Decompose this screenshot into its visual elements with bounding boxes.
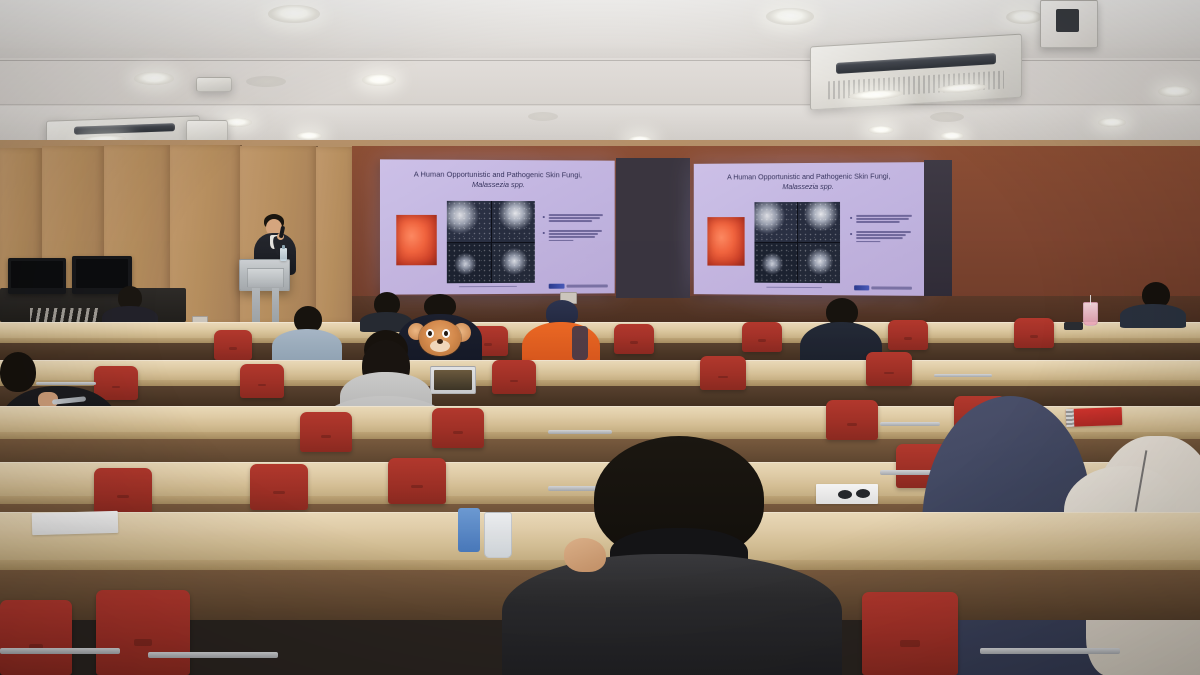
bullet-dot-icon	[543, 216, 545, 218]
shoulders	[1120, 304, 1186, 328]
lecture-chair[interactable]	[492, 360, 536, 394]
hand-on-shoulder	[564, 538, 606, 572]
slide-title: A Human Opportunistic and Pathogenic Ski…	[707, 171, 911, 192]
bullet-dot-icon	[850, 217, 852, 219]
smartphone	[1064, 322, 1083, 330]
right-projection-screen: A Human Opportunistic and Pathogenic Ski…	[694, 162, 925, 296]
ceiling-downlight	[134, 72, 174, 85]
ceiling-downlight	[362, 74, 396, 86]
chair-rail	[0, 648, 120, 654]
logo-wordmark	[871, 286, 912, 289]
sem-panel	[798, 202, 840, 242]
blue-bottle	[458, 508, 480, 552]
left-projection-screen: A Human Opportunistic and Pathogenic Ski…	[380, 159, 615, 294]
lecture-chair[interactable]	[214, 330, 252, 360]
ceiling-downlight-off	[930, 112, 964, 122]
slide-bullets	[850, 215, 913, 246]
red-notebook	[1066, 407, 1123, 427]
lecture-chair[interactable]	[0, 600, 72, 675]
lecture-chair[interactable]	[862, 592, 958, 675]
slide-title-line-2: Malassezia spp.	[707, 181, 911, 192]
ceiling-downlight	[1098, 118, 1126, 127]
sem-panel	[798, 243, 840, 283]
chair-rail	[548, 430, 612, 434]
bullet-item	[543, 214, 604, 222]
shoulders	[502, 554, 842, 675]
sem-panel	[754, 243, 796, 283]
desk-surface	[0, 360, 1200, 380]
lecture-chair[interactable]	[866, 352, 912, 386]
chair-rail	[148, 652, 278, 658]
clinical-skin-photo	[396, 215, 437, 265]
paper-sheet	[32, 511, 119, 535]
bullet-dot-icon	[850, 233, 852, 235]
logo-mark-icon	[549, 284, 565, 289]
ceiling-downlight	[1006, 10, 1042, 24]
lecture-chair[interactable]	[94, 468, 152, 514]
ceiling	[0, 0, 1200, 152]
sem-micrograph-grid	[754, 202, 840, 283]
lecture-chair[interactable]	[300, 412, 352, 452]
slide-bullets	[543, 214, 604, 245]
clinical-skin-photo	[707, 217, 744, 266]
lecture-chair[interactable]	[240, 364, 284, 398]
marker	[856, 489, 870, 498]
ceiling-ac-unit	[186, 120, 228, 142]
wall-dark-panel	[924, 160, 952, 296]
cable-tray	[30, 308, 100, 322]
ceiling-downlight	[940, 132, 964, 140]
slide-title-line-2: Malassezia spp.	[394, 180, 601, 191]
lecture-chair[interactable]	[432, 408, 484, 448]
bullet-item	[543, 230, 604, 241]
lecture-chair[interactable]	[250, 464, 308, 510]
sem-panel	[492, 201, 535, 242]
lecture-hall-photo: A Human Opportunistic and Pathogenic Ski…	[0, 0, 1200, 675]
lecture-chair[interactable]	[388, 458, 446, 504]
slide-title-line-1: A Human Opportunistic and Pathogenic Ski…	[414, 170, 582, 180]
university-logo	[549, 283, 608, 288]
podium	[239, 259, 290, 291]
backpack-strap	[572, 326, 588, 360]
logo-mark-icon	[854, 285, 869, 290]
chair-rail	[980, 648, 1120, 654]
sem-panel	[754, 202, 796, 242]
ceiling-speaker	[1040, 0, 1098, 48]
pink-drink-cup	[1083, 302, 1098, 326]
projector-mount	[196, 77, 232, 92]
ceiling-downlight	[868, 126, 894, 134]
student-front-black-turtleneck	[502, 436, 842, 675]
sem-panel	[492, 242, 535, 283]
lecture-chair[interactable]	[1014, 318, 1054, 348]
ceiling-ac-unit	[810, 34, 1022, 111]
chair-rail	[880, 422, 940, 426]
bullet-dot-icon	[543, 232, 545, 234]
sem-panel	[447, 243, 491, 284]
student-blazer-right	[1120, 282, 1186, 326]
ceiling-downlight-off	[528, 112, 558, 121]
ceiling-downlight	[268, 5, 320, 23]
lecture-chair[interactable]	[614, 324, 654, 354]
bullet-item	[850, 231, 913, 242]
water-bottle	[280, 248, 287, 261]
lecture-chair[interactable]	[888, 320, 928, 350]
lecture-chair[interactable]	[700, 356, 746, 390]
sem-panel	[447, 201, 491, 242]
ceiling-downlight-off	[246, 76, 286, 87]
slide-title: A Human Opportunistic and Pathogenic Ski…	[394, 169, 601, 190]
sem-micrograph-grid	[447, 201, 535, 283]
screen-gap	[616, 158, 690, 298]
head	[0, 352, 36, 392]
university-logo	[854, 285, 912, 290]
logo-wordmark	[567, 284, 608, 287]
slide-title-line-1: A Human Opportunistic and Pathogenic Ski…	[727, 171, 890, 181]
lecture-chair[interactable]	[742, 322, 782, 352]
lecture-chair[interactable]	[826, 400, 878, 440]
ceiling-downlight	[1158, 86, 1192, 97]
ceiling-downlight	[766, 8, 814, 25]
ceiling-downlight	[296, 132, 322, 140]
lecture-chair[interactable]	[96, 590, 190, 675]
bullet-item	[850, 215, 913, 223]
chair-rail	[934, 374, 992, 377]
control-monitor[interactable]	[8, 258, 66, 294]
